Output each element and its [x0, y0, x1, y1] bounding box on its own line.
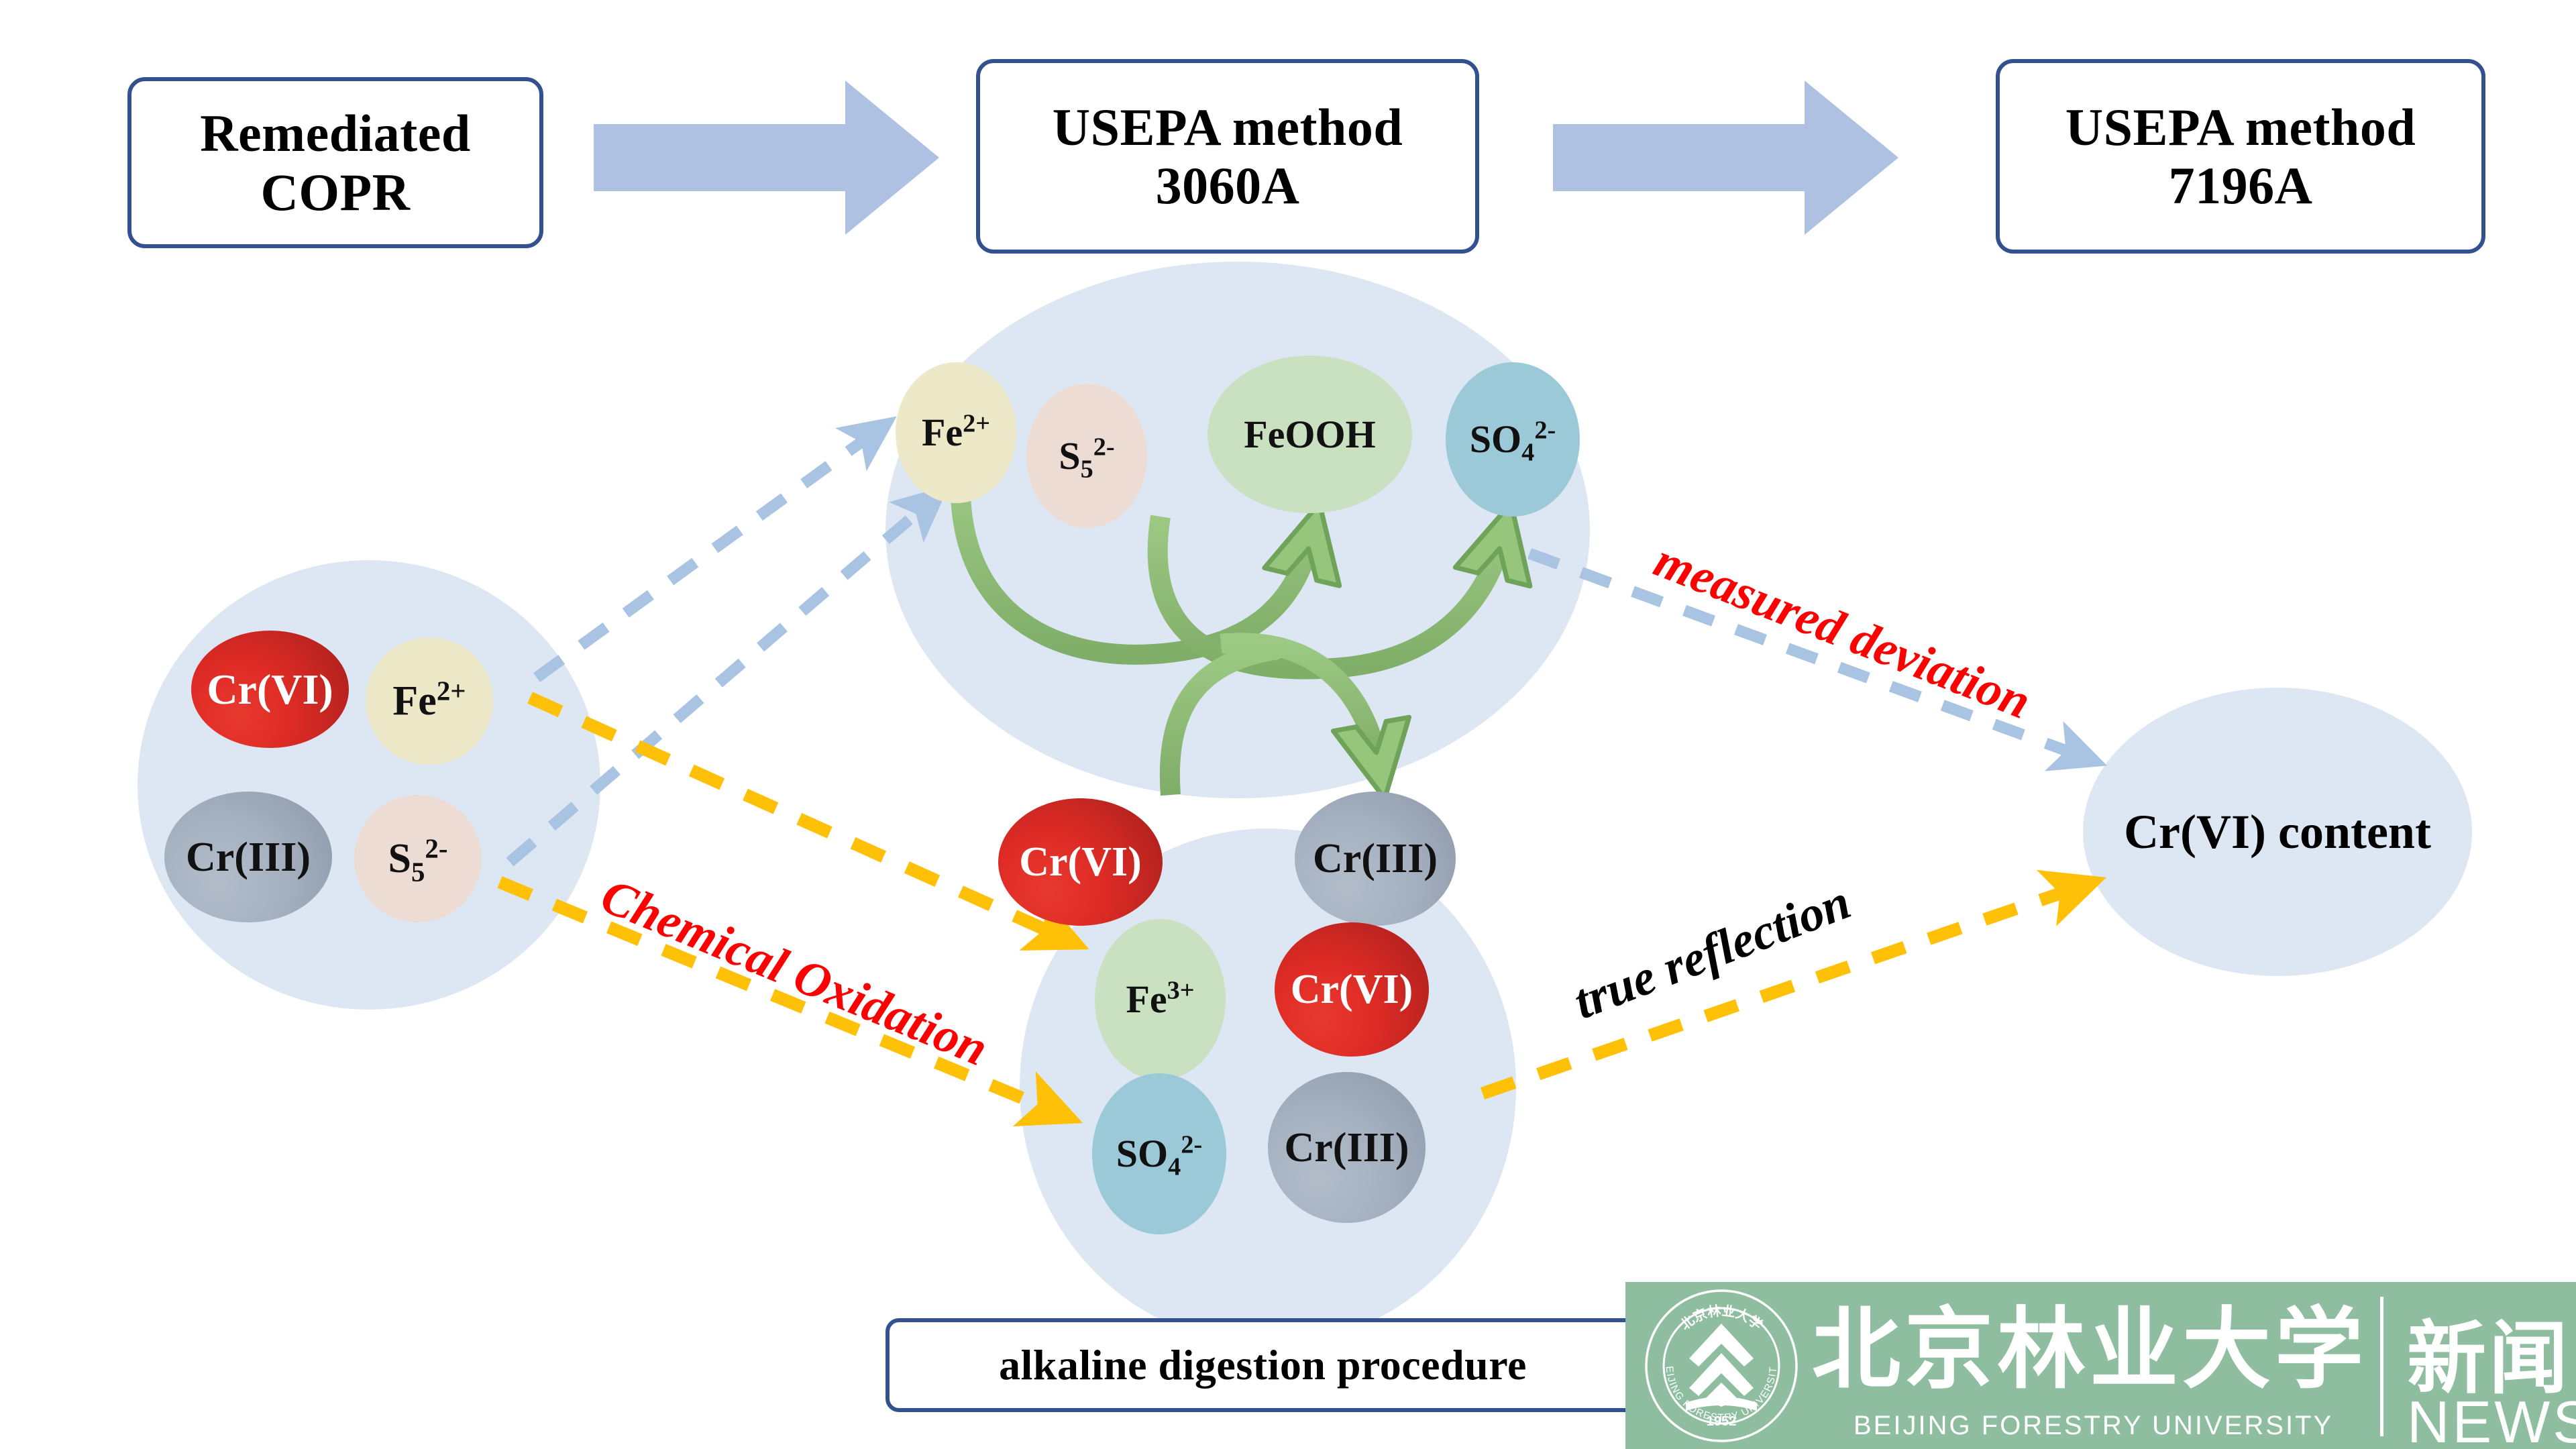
block-arrow-3060a-to-7196a — [1553, 80, 1898, 235]
watermark-divider — [2380, 1297, 2383, 1436]
bubble-source-crvi[interactable]: Cr(VI) — [191, 631, 349, 748]
bubble-label: Cr(III) — [1285, 1127, 1409, 1169]
bubble-label: S52- — [388, 838, 447, 879]
bubble-lower-criii[interactable]: Cr(III) — [1268, 1072, 1426, 1223]
bubble-label: Cr(VI) — [207, 668, 333, 711]
bubble-source-s5[interactable]: S52- — [354, 795, 482, 922]
bubble-upper-criii[interactable]: Cr(III) — [1295, 792, 1456, 926]
ellipse-source-copr — [138, 560, 600, 1010]
caption-label: alkaline digestion procedure — [999, 1341, 1527, 1389]
bubble-upper-so4[interactable]: SO42- — [1446, 362, 1580, 517]
dashed-arrow-source-to-upper-a — [537, 429, 879, 678]
bubble-lower-fe3[interactable]: Fe3+ — [1095, 919, 1226, 1080]
bubble-lower-so4[interactable]: SO42- — [1092, 1073, 1226, 1234]
bubble-label: SO42- — [1470, 420, 1556, 459]
block-arrow-copr-to-3060a — [594, 80, 939, 235]
bubble-label: Cr(III) — [1313, 838, 1438, 879]
bubble-label: Cr(III) — [186, 837, 311, 878]
bubble-upper-crvi[interactable]: Cr(VI) — [998, 798, 1163, 926]
caption-box-alkaline-digestion[interactable]: alkaline digestion procedure — [885, 1318, 1640, 1412]
diagram-canvas: Remediated COPR USEPA method 3060A USEPA… — [0, 0, 2576, 1449]
watermark-university-name-cn: 北京林业大学 — [1812, 1293, 2335, 1407]
university-seal-icon: 1952 北京林业大学 BEIJING FORESTRY UNIVERSITY — [1644, 1289, 1799, 1443]
flow-box-label: USEPA method 3060A — [1053, 98, 1403, 215]
bubble-upper-fe2[interactable]: Fe2+ — [896, 362, 1016, 503]
bubble-label: SO42- — [1116, 1134, 1202, 1173]
bubble-upper-s5[interactable]: S52- — [1026, 384, 1147, 528]
bubble-label: S52- — [1059, 437, 1114, 476]
watermark-university-name-en: BEIJING FORESTRY UNIVERSITY — [1854, 1411, 2363, 1441]
watermark-banner: 1952 北京林业大学 BEIJING FORESTRY UNIVERSITY … — [1625, 1282, 2576, 1449]
flow-box-label: USEPA method 7196A — [2065, 98, 2416, 215]
dashed-arrow-upper-to-result — [1529, 553, 2086, 758]
ellipse-upper-3060a — [885, 262, 1590, 798]
bubble-upper-feooh[interactable]: FeOOH — [1207, 356, 1412, 513]
bubble-label: Cr(VI) — [1291, 969, 1413, 1010]
bubble-label: Fe3+ — [1126, 980, 1194, 1019]
result-ellipse-label: Cr(VI) content — [2083, 798, 2472, 865]
bubble-source-criii[interactable]: Cr(III) — [164, 792, 332, 922]
bubble-label: Fe2+ — [392, 680, 466, 722]
flow-box-usepa-3060a[interactable]: USEPA method 3060A — [976, 59, 1479, 254]
bubble-source-fe2[interactable]: Fe2+ — [366, 637, 493, 765]
flow-box-usepa-7196a[interactable]: USEPA method 7196A — [1996, 59, 2485, 254]
bubble-lower-crvi[interactable]: Cr(VI) — [1275, 922, 1429, 1057]
bubble-label: Fe2+ — [922, 413, 990, 452]
flow-box-label: Remediated COPR — [200, 104, 471, 221]
bubble-label: Cr(VI) — [1019, 841, 1142, 883]
flow-box-remediated-copr[interactable]: Remediated COPR — [127, 77, 543, 248]
watermark-news-en: NEWS — [2407, 1388, 2576, 1449]
bubble-label: FeOOH — [1244, 415, 1376, 454]
